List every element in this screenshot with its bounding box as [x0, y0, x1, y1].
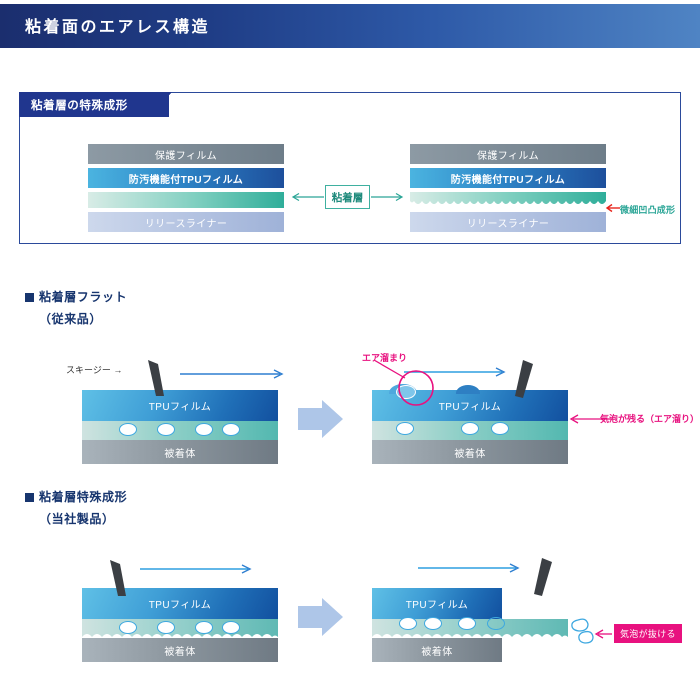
layer-label: 保護フィルム	[155, 147, 217, 162]
square-bullet-icon	[25, 493, 34, 502]
layer-label: 保護フィルム	[477, 147, 539, 162]
layer-label: 防汚機能付TPUフィルム	[451, 171, 565, 186]
air-remains-label: 気泡が残る（エア溜り）	[600, 412, 699, 425]
layer-adhesive-flat	[88, 192, 284, 208]
substrate-slab: 被着体	[82, 638, 278, 662]
air-bubble	[461, 422, 479, 435]
substrate-label: 被着体	[454, 445, 485, 460]
air-escapes-badge: 気泡が抜ける	[614, 624, 682, 643]
panel-arrow-right-icon	[371, 192, 405, 202]
panel-tab-label: 粘着層の特殊成形	[31, 97, 128, 113]
layer-protective-film: 保護フィルム	[410, 144, 606, 164]
substrate-slab: 被着体	[82, 440, 278, 464]
escaping-bubble	[487, 617, 505, 630]
air-bubble	[119, 423, 137, 436]
squeegee-direction-arrow-formed	[140, 563, 260, 575]
substrate-label: 被着体	[164, 643, 195, 658]
layer-stack-right: 保護フィルム 防汚機能付TPUフィルム リリースライナー	[410, 144, 606, 232]
layer-label: リリースライナー	[145, 215, 228, 230]
adhesive-slab	[82, 421, 278, 440]
micro-texture-arrow-icon	[604, 203, 620, 213]
section-heading-formed: 粘着層特殊成形	[25, 488, 127, 505]
layer-label: リリースライナー	[467, 215, 550, 230]
section-heading-formed-label: 粘着層特殊成形	[39, 490, 127, 504]
layer-release-liner: リリースライナー	[88, 212, 284, 232]
transition-arrow-flat	[298, 398, 344, 440]
transition-arrow-formed	[298, 596, 344, 638]
air-bubble	[399, 617, 417, 630]
squeegee-icon-formed-after	[524, 556, 564, 600]
air-bubble	[157, 423, 175, 436]
squeegee-direction-arrow-flat	[180, 368, 290, 380]
micro-texture-annotation: 微細凹凸成形	[620, 203, 675, 216]
substrate-slab: 被着体	[372, 440, 568, 464]
section-heading-flat: 粘着層フラット	[25, 288, 127, 305]
square-bullet-icon	[25, 293, 34, 302]
layer-label: 防汚機能付TPUフィルム	[129, 171, 243, 186]
air-bubble	[157, 621, 175, 634]
squeegee-icon-flat	[142, 358, 182, 400]
substrate-slab: 被着体	[372, 638, 502, 662]
air-bubble	[396, 422, 414, 435]
air-bubble	[491, 422, 509, 435]
squeegee-direction-arrow-formed-after	[418, 562, 528, 574]
air-bubble	[195, 423, 213, 436]
layer-protective-film: 保護フィルム	[88, 144, 284, 164]
air-bubble	[119, 621, 137, 634]
section-subheading-formed: （当社製品）	[39, 510, 115, 527]
layer-antifouling-tpu-film: 防汚機能付TPUフィルム	[88, 168, 284, 188]
substrate-label: 被着体	[164, 445, 195, 460]
air-bubble	[222, 621, 240, 634]
page-title: 粘着面のエアレス構造	[25, 13, 210, 37]
squeegee-label-flat: スキージー →	[66, 363, 122, 376]
layer-adhesive-textured	[410, 192, 606, 208]
section-subheading-flat: （従来品）	[39, 310, 102, 327]
textured-adhesive-shape	[410, 192, 606, 208]
air-bubble	[195, 621, 213, 634]
squeegee-icon-flat-after	[505, 358, 545, 402]
air-escapes-arrow-icon	[592, 628, 614, 640]
layer-stack-left: 保護フィルム 防汚機能付TPUフィルム リリースライナー	[88, 144, 284, 232]
layer-release-liner: リリースライナー	[410, 212, 606, 232]
air-bubble	[458, 617, 476, 630]
substrate-label: 被着体	[421, 643, 452, 658]
panel-tab-slant-edge	[150, 92, 172, 117]
squeegee-icon-formed	[104, 558, 144, 600]
layer-antifouling-tpu-film: 防汚機能付TPUフィルム	[410, 168, 606, 188]
adhesive-layer-callout-label: 粘着層	[332, 190, 364, 205]
air-bubble	[424, 617, 442, 630]
panel-arrow-left-icon	[290, 192, 324, 202]
air-pocket-label: エア溜まり	[362, 351, 407, 364]
adhesive-layer-callout-box: 粘着層	[325, 185, 370, 209]
section-heading-flat-label: 粘着層フラット	[39, 290, 127, 304]
tpu-film-label: TPUフィルム	[372, 588, 502, 619]
air-bubble	[222, 423, 240, 436]
